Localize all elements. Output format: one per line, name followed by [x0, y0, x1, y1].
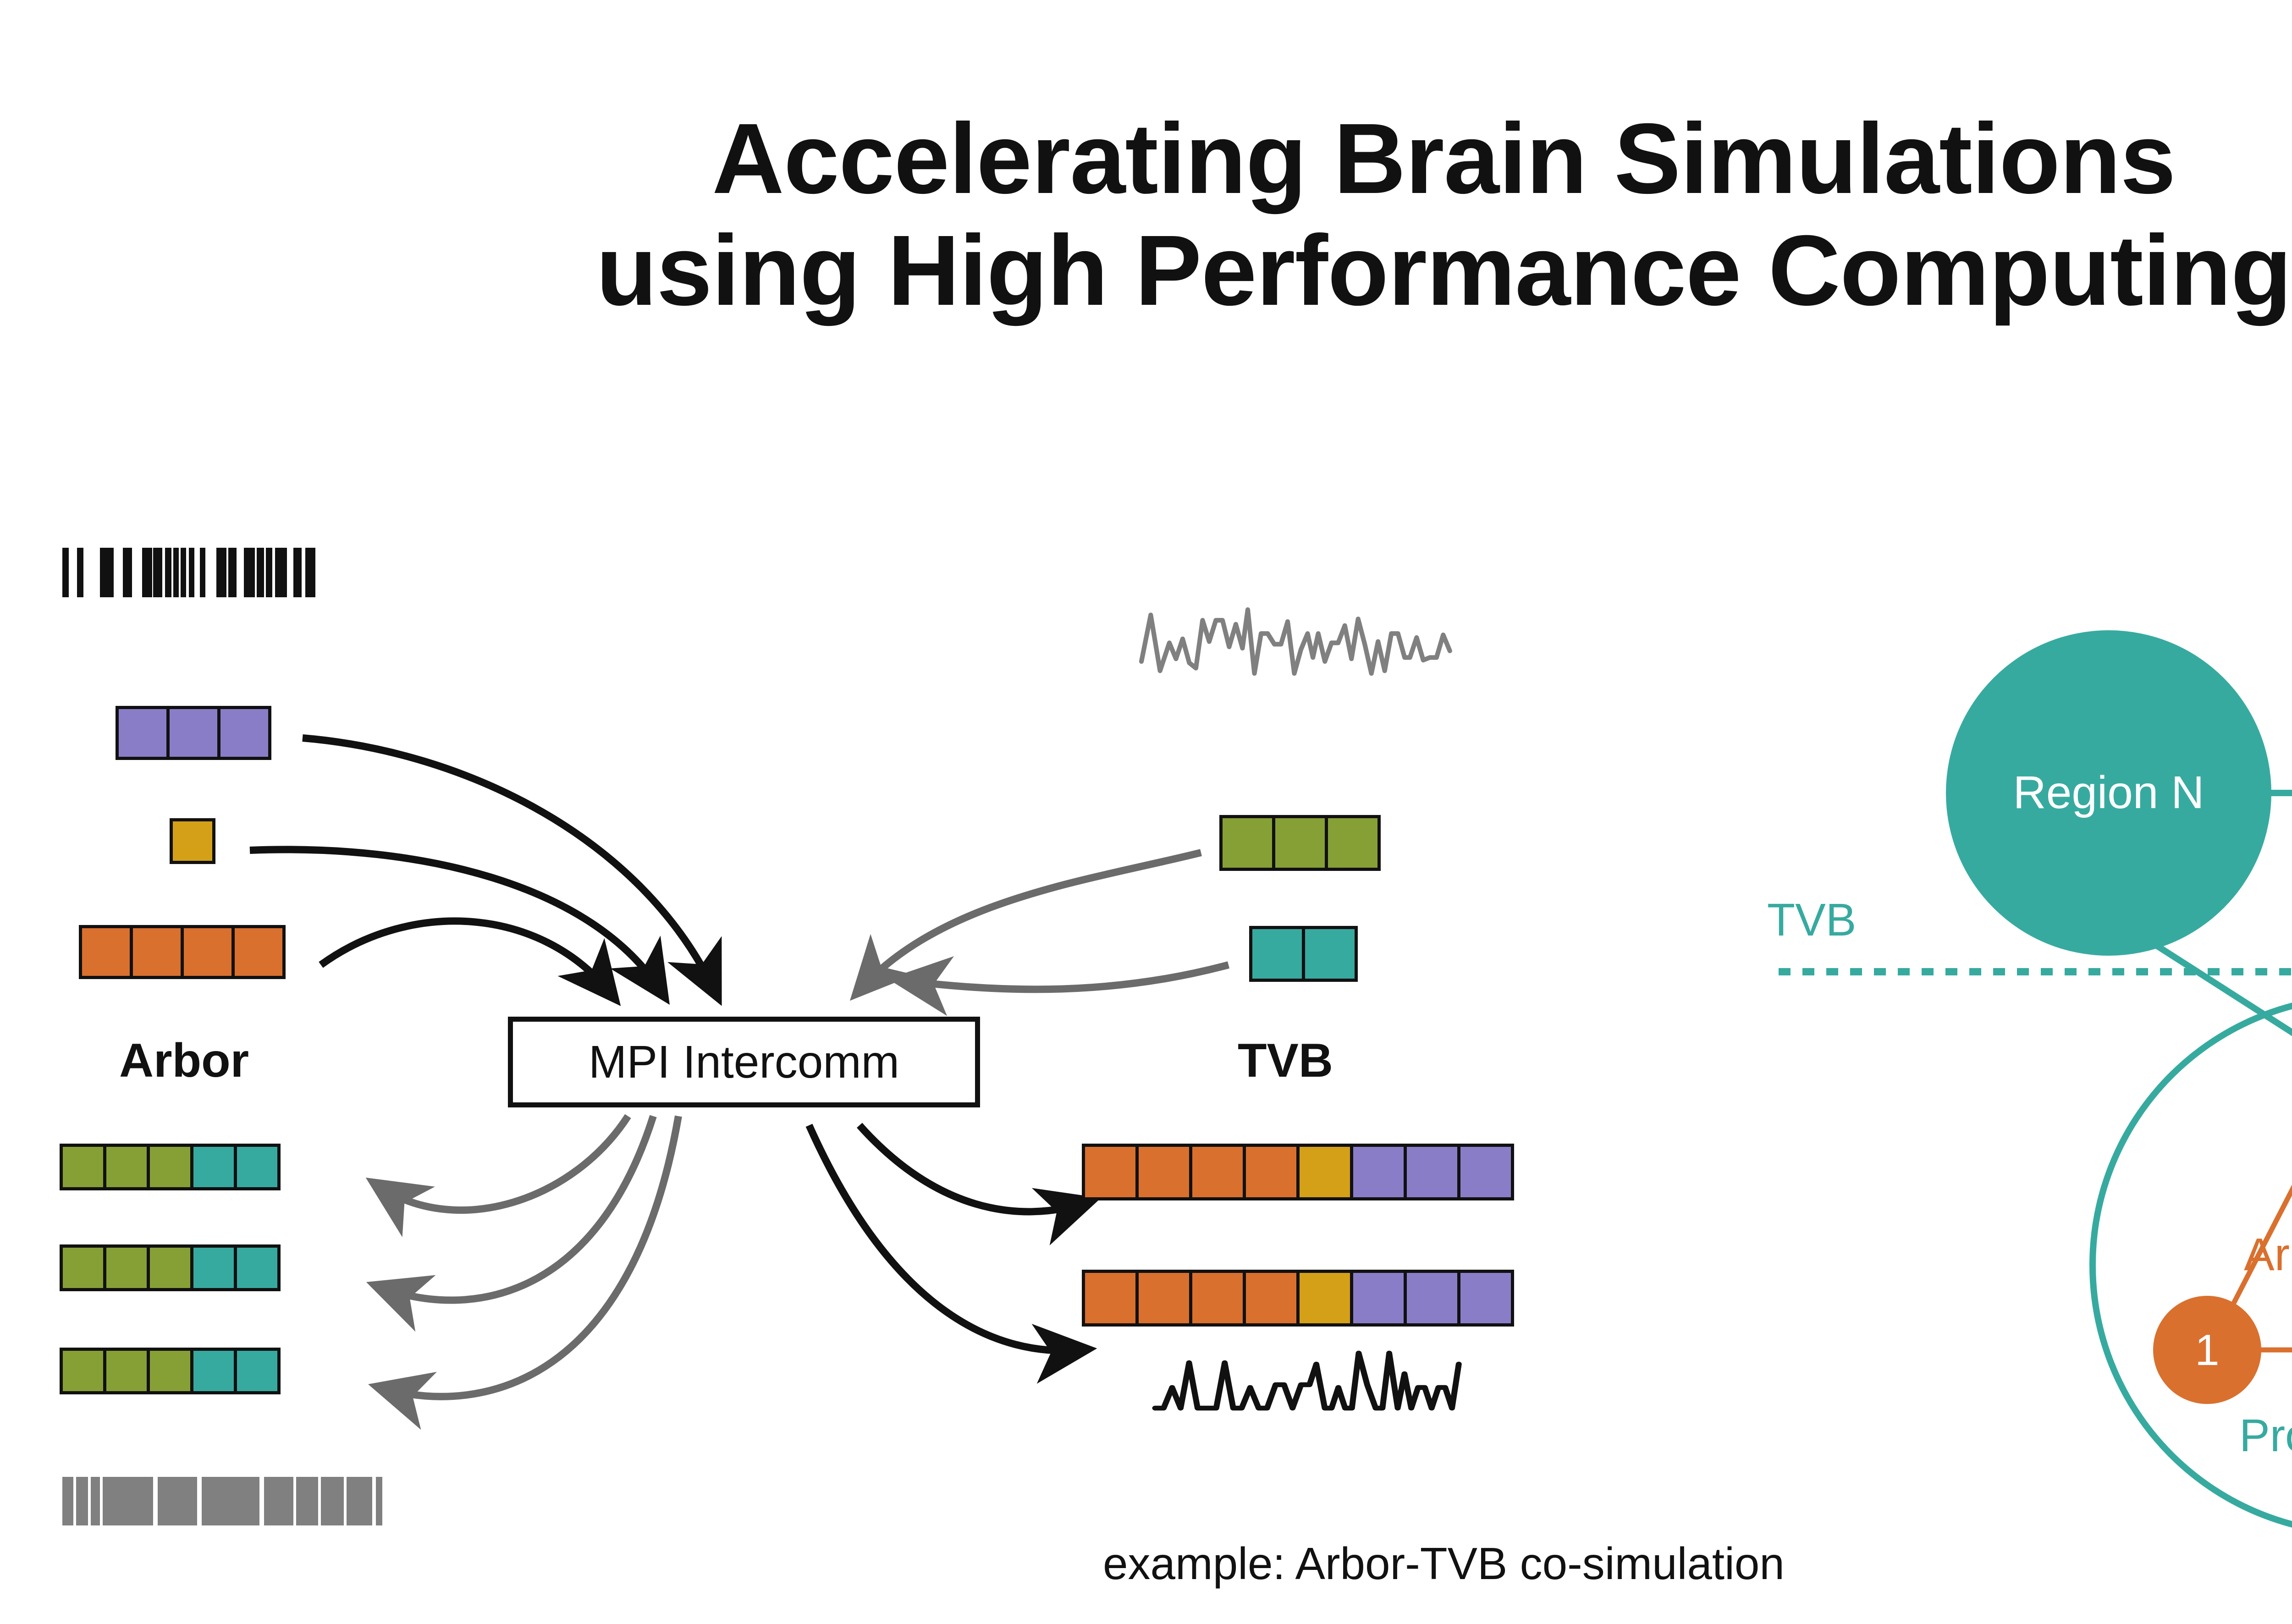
block-cell [1272, 815, 1328, 871]
tvb-boundary-label: TVB [1767, 894, 1856, 947]
raster-tick [91, 1477, 100, 1525]
raster-tick [158, 1477, 197, 1525]
mpi-intercomm-box[interactable]: MPI Intercomm [508, 1017, 980, 1107]
block-cell [170, 818, 215, 864]
raster-tick [142, 548, 152, 597]
raster-tick [305, 548, 315, 597]
block-cell [60, 1348, 106, 1394]
teal-block [1249, 926, 1355, 982]
spike-trace-black [1155, 1353, 1459, 1408]
raster-tick [189, 548, 194, 597]
block-cell [1457, 1144, 1514, 1200]
raster-tick [200, 548, 205, 597]
raster-tick [202, 1477, 259, 1525]
block-cell [217, 706, 271, 760]
region-n-label: Region N [1950, 766, 2267, 819]
raster-tick [181, 548, 186, 597]
block-cell [181, 925, 235, 979]
block-cell [147, 1244, 193, 1291]
block-cell [60, 1144, 106, 1190]
arbor-graph-label: Arbor [2244, 1228, 2292, 1281]
arrows-arbor-to-mpi [250, 738, 714, 992]
figure-caption: example: Arbor-TVB co-simulation [0, 1538, 2292, 1590]
raster-tick [77, 548, 83, 597]
arrows-tvb-to-mpi [862, 853, 1229, 989]
block-cell [234, 1144, 281, 1190]
block-cell [1135, 1144, 1192, 1200]
block-cell [190, 1244, 237, 1291]
block-cell [234, 1348, 281, 1394]
block-cell [234, 1244, 281, 1291]
raster-tick [103, 1477, 153, 1525]
raster-tick [62, 1477, 73, 1525]
block-cell [1189, 1270, 1246, 1327]
block-cell [166, 706, 220, 760]
raster-tick [173, 548, 179, 597]
block-cell [1249, 926, 1305, 982]
raster-tick [76, 1477, 88, 1525]
arrows-mpi-to-arbor [380, 1116, 678, 1397]
proxy-id-label: Proxy ID [2239, 1409, 2292, 1462]
raster-tick [296, 1477, 318, 1525]
raster-tick [376, 1477, 382, 1525]
arbor-label: Arbor [119, 1034, 249, 1088]
raster-tick [244, 548, 255, 597]
block-cell [147, 1144, 193, 1190]
block-cell [1302, 926, 1358, 982]
block-cell [231, 925, 286, 979]
tvb-label: TVB [1238, 1034, 1333, 1088]
raster-tick [153, 548, 162, 597]
lfp-trace-gray [1141, 610, 1450, 673]
block-cell [1219, 815, 1275, 871]
block-cell [147, 1348, 193, 1394]
block-cell [1457, 1270, 1514, 1327]
block-cell [1404, 1270, 1460, 1327]
raster-tick [275, 548, 287, 597]
olive-teal-block-3 [60, 1348, 277, 1394]
block-cell [1082, 1270, 1139, 1327]
olive-teal-block-2 [60, 1244, 277, 1291]
title-line-1: Accelerating Brain Simulations [0, 103, 2292, 215]
mpi-intercomm-label: MPI Intercomm [589, 1036, 899, 1089]
raster-tick [266, 548, 272, 597]
title-line-2: using High Performance Computing [0, 215, 2292, 327]
proxy-node-1-label: 1 [2181, 1324, 2234, 1377]
raster-tick [62, 548, 69, 597]
block-cell [1082, 1144, 1139, 1200]
network-graph [1779, 623, 2292, 1533]
block-cell [130, 925, 184, 979]
block-cell [79, 925, 133, 979]
block-cell [103, 1348, 150, 1394]
block-cell [103, 1244, 150, 1291]
block-cell [1189, 1144, 1246, 1200]
raster-tick [293, 548, 302, 597]
raster-tick [264, 1477, 293, 1525]
raster-tick [216, 548, 226, 597]
page-title: Accelerating Brain Simulations using Hig… [0, 103, 2292, 327]
raster-tick [123, 548, 132, 597]
orange-gold-purple-block-1 [1082, 1144, 1511, 1200]
block-cell [190, 1348, 237, 1394]
block-cell [1135, 1270, 1192, 1327]
block-cell [116, 706, 170, 760]
block-cell [1243, 1144, 1300, 1200]
block-cell [190, 1144, 237, 1190]
block-cell [1243, 1270, 1300, 1327]
purple-block [116, 706, 268, 760]
raster-tick [100, 548, 114, 597]
orange-gold-purple-block-2 [1082, 1270, 1511, 1327]
block-cell [1350, 1270, 1407, 1327]
olive-block [1219, 815, 1377, 871]
raster-tick [321, 1477, 344, 1525]
region-n-proxy-connector [2154, 944, 2292, 1038]
arrows-mpi-to-tvb [809, 1125, 1084, 1351]
block-cell [1350, 1144, 1407, 1200]
block-cell [1296, 1270, 1353, 1327]
orange-block [79, 925, 282, 979]
block-cell [1296, 1144, 1353, 1200]
olive-teal-block-1 [60, 1144, 277, 1190]
raster-tick [165, 548, 171, 597]
block-cell [1325, 815, 1381, 871]
raster-tick [347, 1477, 372, 1525]
raster-tick [228, 548, 237, 597]
gold-block [170, 818, 212, 864]
block-cell [60, 1244, 106, 1291]
slide-canvas: Accelerating Brain Simulations using Hig… [0, 0, 2292, 1624]
block-cell [1404, 1144, 1460, 1200]
raster-tick [257, 548, 264, 597]
block-cell [103, 1144, 150, 1190]
